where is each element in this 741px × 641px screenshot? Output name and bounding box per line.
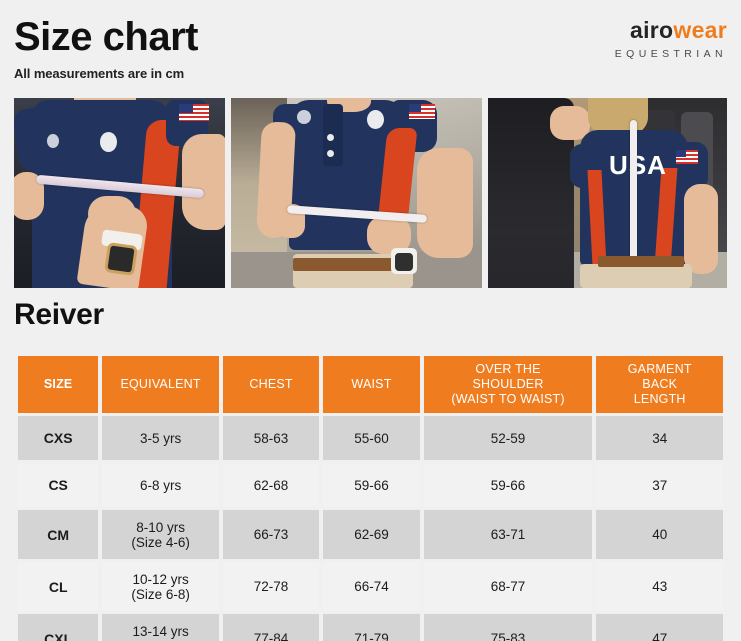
- cell-waist: 59-66: [323, 463, 419, 507]
- cell-waist: 66-74: [323, 562, 419, 611]
- photo1-chest-logo: [100, 132, 117, 152]
- photo3-belt: [598, 256, 684, 267]
- cell-equivalent: 6-8 yrs: [102, 463, 219, 507]
- cell-equivalent: 8-10 yrs (Size 4-6): [102, 510, 219, 559]
- cell-equivalent-line-1: 10-12 yrs: [104, 572, 217, 587]
- size-chart-header-row: SIZE EQUIVALENT CHEST WAIST OVER THE SHO…: [18, 356, 723, 413]
- product-name-heading: Reiver: [14, 300, 104, 330]
- cell-chest: 62-68: [223, 463, 319, 507]
- cell-over-shoulder: 59-66: [424, 463, 593, 507]
- waist-measurement-photo: [231, 98, 482, 288]
- column-header-garment-back-length: GARMENT BACK LENGTH: [596, 356, 723, 413]
- cell-back-length: 37: [596, 463, 723, 507]
- brand-logo-wordmark: airowear: [615, 19, 727, 42]
- back-length-measurement-photo: USA: [488, 98, 727, 288]
- cell-chest: 77-84: [223, 614, 319, 641]
- cell-chest: 66-73: [223, 510, 319, 559]
- column-header-waist: WAIST: [323, 356, 419, 413]
- cell-over-shoulder: 68-77: [424, 562, 593, 611]
- photo2-arm-right: [417, 148, 473, 258]
- photo1-usa-flag-patch: [179, 104, 209, 121]
- cell-over-shoulder: 75-83: [424, 614, 593, 641]
- photo1-upper-arm-right: [182, 134, 225, 230]
- brand-logo: airowear EQUESTRIAN: [615, 19, 727, 60]
- photo2-button-2: [327, 150, 334, 157]
- column-header-size: SIZE: [18, 356, 98, 413]
- cell-size: CS: [18, 463, 98, 507]
- cell-equivalent: 3-5 yrs: [102, 416, 219, 460]
- table-row: CXL 13-14 yrs (Size 8-10) 77-84 71-79 75…: [18, 614, 723, 641]
- column-header-chest: CHEST: [223, 356, 319, 413]
- chest-measurement-photo: [14, 98, 225, 288]
- cell-over-shoulder: 63-71: [424, 510, 593, 559]
- photo3-breeches: [580, 264, 692, 288]
- cell-equivalent-line-1: 8-10 yrs: [104, 520, 217, 535]
- measurement-units-note: All measurements are in cm: [14, 66, 184, 81]
- table-row: CS 6-8 yrs 62-68 59-66 59-66 37: [18, 463, 723, 507]
- size-chart-table: SIZE EQUIVALENT CHEST WAIST OVER THE SHO…: [14, 353, 727, 641]
- brand-logo-airo: airo: [630, 17, 673, 43]
- cell-back-length: 47: [596, 614, 723, 641]
- over-shoulder-line-3: (WAIST TO WAIST): [426, 392, 591, 407]
- cell-equivalent: 13-14 yrs (Size 8-10): [102, 614, 219, 641]
- cell-equivalent-line-2: (Size 4-6): [104, 535, 217, 550]
- cell-chest: 72-78: [223, 562, 319, 611]
- cell-equivalent-line-1: 13-14 yrs: [104, 624, 217, 639]
- photo1-watch-face: [104, 242, 138, 276]
- table-row: CXS 3-5 yrs 58-63 55-60 52-59 34: [18, 416, 723, 460]
- cell-equivalent-line-1: 3-5 yrs: [104, 431, 217, 446]
- cell-back-length: 40: [596, 510, 723, 559]
- cell-waist: 55-60: [323, 416, 419, 460]
- photo3-arm-right: [684, 184, 718, 274]
- cell-size: CM: [18, 510, 98, 559]
- table-row: CM 8-10 yrs (Size 4-6) 66-73 62-69 63-71…: [18, 510, 723, 559]
- photo2-chest-logo: [367, 110, 384, 129]
- cell-waist: 71-79: [323, 614, 419, 641]
- cell-size: CL: [18, 562, 98, 611]
- cell-size: CXL: [18, 614, 98, 641]
- page-title: Size chart: [14, 17, 198, 57]
- brand-logo-tagline: EQUESTRIAN: [615, 48, 727, 60]
- photo3-usa-text: USA: [590, 150, 686, 181]
- page-header: Size chart All measurements are in cm ai…: [0, 0, 741, 92]
- cell-equivalent-line-1: 6-8 yrs: [104, 478, 217, 493]
- photo2-shoulder-logo: [297, 110, 311, 124]
- cell-equivalent-line-2: (Size 6-8): [104, 587, 217, 602]
- cell-back-length: 34: [596, 416, 723, 460]
- photo2-watch-face: [395, 253, 413, 271]
- column-header-over-the-shoulder: OVER THE SHOULDER (WAIST TO WAIST): [424, 356, 593, 413]
- table-row: CL 10-12 yrs (Size 6-8) 72-78 66-74 68-7…: [18, 562, 723, 611]
- garment-length-line-3: LENGTH: [598, 392, 721, 407]
- cell-size: CXS: [18, 416, 98, 460]
- cell-over-shoulder: 52-59: [424, 416, 593, 460]
- measurement-photo-strip: USA: [14, 98, 727, 288]
- garment-length-line-1: GARMENT: [598, 362, 721, 377]
- photo1-right-hand: [88, 196, 136, 232]
- over-shoulder-line-1: OVER THE: [426, 362, 591, 377]
- photo3-measuring-tape: [630, 120, 637, 276]
- cell-back-length: 43: [596, 562, 723, 611]
- brand-logo-wear: wear: [673, 17, 727, 43]
- photo2-button-1: [327, 134, 334, 141]
- photo1-shoulder-logo: [47, 134, 59, 148]
- cell-chest: 58-63: [223, 416, 319, 460]
- cell-waist: 62-69: [323, 510, 419, 559]
- column-header-equivalent: EQUIVALENT: [102, 356, 219, 413]
- over-shoulder-line-2: SHOULDER: [426, 377, 591, 392]
- garment-length-line-2: BACK: [598, 377, 721, 392]
- photo2-usa-flag-patch: [409, 104, 435, 119]
- cell-equivalent: 10-12 yrs (Size 6-8): [102, 562, 219, 611]
